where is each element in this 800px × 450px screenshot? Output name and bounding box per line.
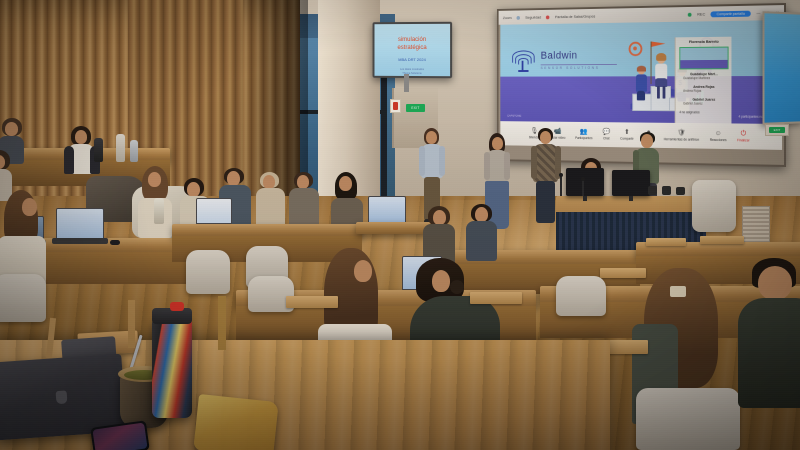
classroom-photo: EXIT simulación estratégica MBA DRT 2024… (0, 0, 800, 450)
film-grain (0, 0, 800, 450)
